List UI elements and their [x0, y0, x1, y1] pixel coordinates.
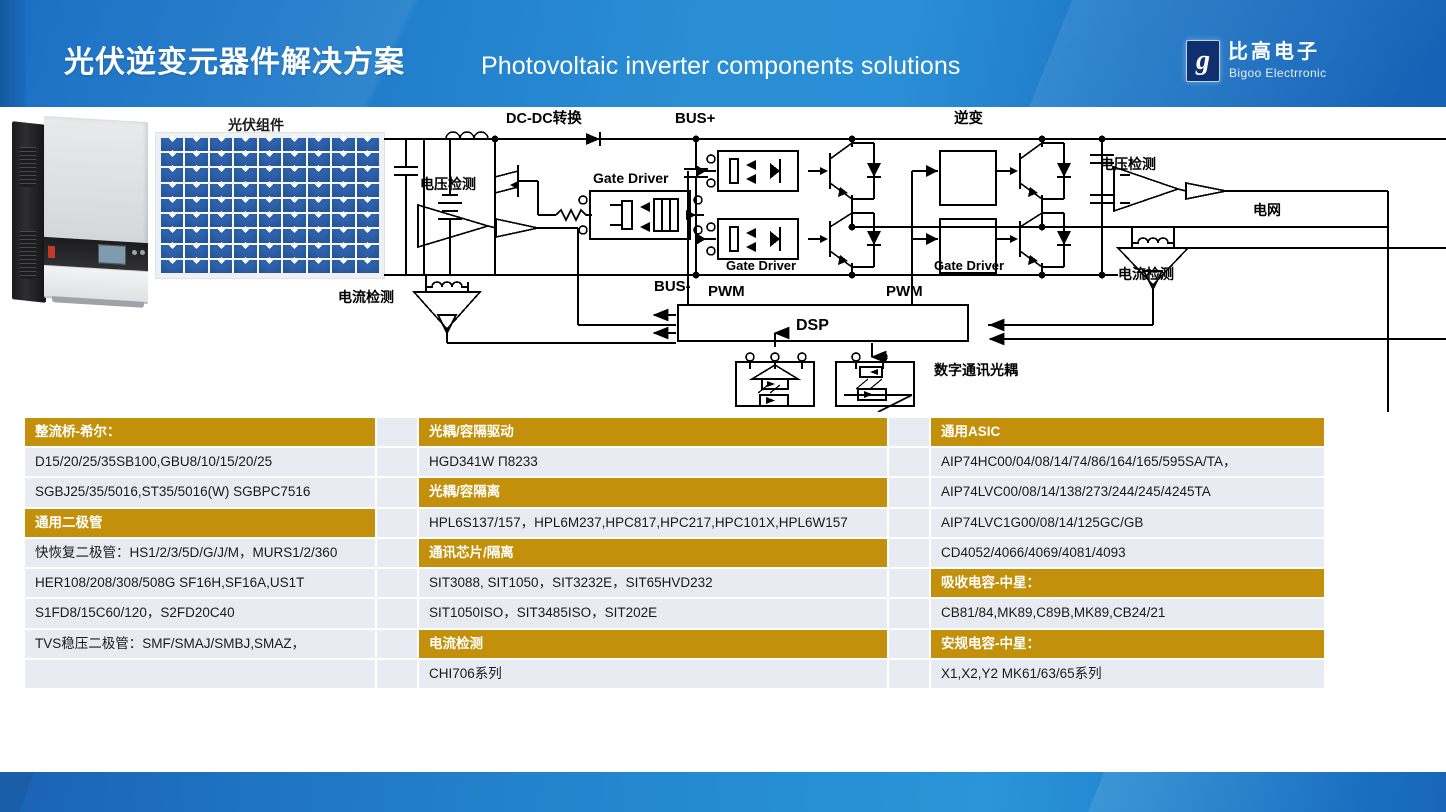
cell-b-4: 通讯芯片/隔离 — [418, 538, 888, 568]
cell-b-7: 电流检测 — [418, 629, 888, 659]
logo-name-cn: 比高电子 — [1228, 40, 1320, 65]
cell-spacer — [888, 659, 930, 689]
label-current-detect-1: 电流检测 — [338, 287, 394, 307]
cell-spacer — [888, 629, 930, 659]
table-row: S1FD8/15C60/120，S2FD20C40 SIT1050ISO，SIT… — [24, 598, 1325, 628]
banner-left-edge — [0, 0, 26, 107]
cell-a-4: 快恢复二极管：HS1/2/3/5D/G/J/M，MURS1/2/360 — [24, 538, 376, 568]
cell-spacer — [376, 538, 418, 568]
pv-cell — [234, 245, 256, 258]
table-row: SGBJ25/35/5016,ST35/5016(W) SGBPC7516 光耦… — [24, 477, 1325, 507]
cell-a-6: S1FD8/15C60/120，S2FD20C40 — [24, 598, 376, 628]
pv-cell — [259, 199, 281, 212]
pv-module-image — [155, 132, 385, 279]
pv-cell — [185, 260, 207, 273]
cell-a-8 — [24, 659, 376, 689]
pv-cell — [234, 260, 256, 273]
cell-spacer — [376, 447, 418, 477]
table-row: TVS稳压二极管：SMF/SMAJ/SMBJ,SMAZ， 电流检测 安规电容-中… — [24, 629, 1325, 659]
label-digital-opto: 数字通讯光耦 — [934, 362, 1018, 378]
cell-spacer — [888, 477, 930, 507]
cell-b-6: SIT1050ISO，SIT3485ISO，SIT202E — [418, 598, 888, 628]
pv-cell — [259, 138, 281, 151]
pv-cell — [161, 168, 183, 181]
block-diagram-area: 光伏组件 — [0, 107, 1446, 412]
table-row: D15/20/25/35SB100,GBU8/10/15/20/25 HGD34… — [24, 447, 1325, 477]
inverter-vent-bottom — [20, 231, 36, 279]
cell-c-1: AIP74HC00/04/08/14/74/86/164/165/595SA/T… — [930, 447, 1325, 477]
logo-mark-icon: g — [1186, 40, 1220, 82]
pv-cell — [332, 229, 354, 242]
cell-spacer — [888, 598, 930, 628]
page-title-cn: 光伏逆变元器件解决方案 — [64, 44, 405, 82]
pv-cell — [308, 138, 330, 151]
cell-b-1: HGD341W П8233 — [418, 447, 888, 477]
label-voltage-detect-2: 电压检测 — [1100, 156, 1156, 172]
inverter-circuit-schematic: DC-DC转换 BUS+ BUS- 逆变 Gate Driver Gate Dr… — [378, 107, 1446, 412]
cell-spacer — [376, 508, 418, 538]
pv-cell — [259, 229, 281, 242]
inverter-status-led — [48, 246, 55, 258]
cell-a-5: HER108/208/308/508G SF16H,SF16A,US1T — [24, 568, 376, 598]
cell-spacer — [376, 417, 418, 447]
table-row: 整流桥-希尔： 光耦/容隔驱动 通用ASIC — [24, 417, 1325, 447]
label-gate-driver-1: Gate Driver — [593, 170, 669, 186]
cell-a-7: TVS稳压二极管：SMF/SMAJ/SMBJ,SMAZ， — [24, 629, 376, 659]
pv-cell — [332, 168, 354, 181]
label-grid: 电网 — [1253, 202, 1281, 218]
cell-b-0: 光耦/容隔驱动 — [418, 417, 888, 447]
inverter-product-image — [12, 119, 152, 304]
pv-cell — [259, 168, 281, 181]
label-pwm-1: PWM — [708, 283, 745, 300]
label-dcdc: DC-DC转换 — [506, 109, 582, 127]
pv-cell — [308, 229, 330, 242]
pv-cell — [185, 184, 207, 197]
pv-cell — [332, 245, 354, 258]
inverter-lcd-screen — [98, 244, 126, 265]
pv-cell — [357, 245, 379, 258]
label-inverter: 逆变 — [954, 109, 983, 127]
pv-cell — [283, 245, 305, 258]
label-current-detect-2: 电流检测 — [1118, 266, 1174, 282]
pv-cell — [161, 229, 183, 242]
pv-cell — [234, 229, 256, 242]
cell-b-8: CHI706系列 — [418, 659, 888, 689]
cell-spacer — [888, 568, 930, 598]
pv-cell — [259, 214, 281, 227]
pv-cell — [357, 199, 379, 212]
label-gate-driver-2: Gate Driver — [726, 258, 796, 273]
pv-cell — [332, 260, 354, 273]
logo-mark-letter: g — [1187, 41, 1219, 81]
cell-c-3: AIP74LVC1G00/08/14/125GC/GB — [930, 508, 1325, 538]
page-title-en: Photovoltaic inverter components solutio… — [481, 49, 960, 83]
cell-spacer — [376, 598, 418, 628]
components-table: 整流桥-希尔： 光耦/容隔驱动 通用ASIC D15/20/25/35SB100… — [23, 416, 1326, 690]
cell-c-8: X1,X2,Y2 MK61/63/65系列 — [930, 659, 1325, 689]
slide-root: 光伏逆变元器件解决方案 Photovoltaic inverter compon… — [0, 0, 1446, 812]
footer-bar — [0, 772, 1446, 812]
table-row: 通用二极管 HPL6S137/157，HPL6M237,HPC817,HPC21… — [24, 508, 1325, 538]
pv-cell — [308, 260, 330, 273]
pv-cell — [357, 229, 379, 242]
cell-a-3: 通用二极管 — [24, 508, 376, 538]
pv-cell — [283, 184, 305, 197]
pv-cell — [185, 245, 207, 258]
label-pwm-2: PWM — [886, 283, 923, 300]
table-row: CHI706系列 X1,X2,Y2 MK61/63/65系列 — [24, 659, 1325, 689]
pv-cell — [259, 184, 281, 197]
table-row: 快恢复二极管：HS1/2/3/5D/G/J/M，MURS1/2/360 通讯芯片… — [24, 538, 1325, 568]
pv-cell — [308, 168, 330, 181]
cell-spacer — [888, 538, 930, 568]
pv-cell — [283, 168, 305, 181]
cell-b-5: SIT3088, SIT1050，SIT3232E，SIT65HVD232 — [418, 568, 888, 598]
label-dsp: DSP — [796, 317, 829, 334]
cell-c-7: 安规电容-中星： — [930, 629, 1325, 659]
cell-spacer — [888, 447, 930, 477]
pv-cell — [234, 168, 256, 181]
pv-cell — [283, 260, 305, 273]
pv-cell-grid — [161, 138, 379, 273]
pv-cell — [234, 184, 256, 197]
cell-c-5: 吸收电容-中星： — [930, 568, 1325, 598]
pv-cell — [357, 168, 379, 181]
cell-c-4: CD4052/4066/4069/4081/4093 — [930, 538, 1325, 568]
cell-b-2: 光耦/容隔离 — [418, 477, 888, 507]
pv-cell — [259, 260, 281, 273]
cell-spacer — [376, 568, 418, 598]
label-gate-driver-3: Gate Driver — [934, 258, 1004, 273]
inverter-button-1 — [132, 250, 137, 255]
cell-spacer — [376, 629, 418, 659]
inverter-button-2 — [140, 250, 145, 255]
logo-name-en: Bigoo Electrronic — [1229, 66, 1327, 81]
cell-c-6: CB81/84,MK89,C89B,MK89,CB24/21 — [930, 598, 1325, 628]
pv-cell — [308, 184, 330, 197]
pv-cell — [210, 260, 232, 273]
brand-logo: g 比高电子 Bigoo Electrronic — [1186, 40, 1361, 87]
inverter-vent-top — [20, 147, 36, 187]
cell-a-1: D15/20/25/35SB100,GBU8/10/15/20/25 — [24, 447, 376, 477]
pv-cell — [308, 245, 330, 258]
table-row: HER108/208/308/508G SF16H,SF16A,US1T SIT… — [24, 568, 1325, 598]
pv-cell — [185, 168, 207, 181]
cell-c-2: AIP74LVC00/08/14/138/273/244/245/4245TA — [930, 477, 1325, 507]
cell-c-0: 通用ASIC — [930, 417, 1325, 447]
label-voltage-detect-1: 电压检测 — [420, 176, 476, 192]
cell-spacer — [888, 508, 930, 538]
pv-cell — [185, 199, 207, 212]
cell-a-2: SGBJ25/35/5016,ST35/5016(W) SGBPC7516 — [24, 477, 376, 507]
pv-cell — [259, 245, 281, 258]
pv-cell — [357, 260, 379, 273]
label-bus-minus: BUS- — [654, 278, 691, 295]
pv-cell — [283, 229, 305, 242]
cell-a-0: 整流桥-希尔： — [24, 417, 376, 447]
pv-cell — [185, 229, 207, 242]
pv-cell — [308, 199, 330, 212]
header-banner: 光伏逆变元器件解决方案 Photovoltaic inverter compon… — [0, 0, 1446, 107]
cell-spacer — [376, 659, 418, 689]
label-bus-plus: BUS+ — [675, 110, 716, 127]
cell-spacer — [376, 477, 418, 507]
cell-b-3: HPL6S137/157，HPL6M237,HPC817,HPC217,HPC1… — [418, 508, 888, 538]
pv-cell — [161, 260, 183, 273]
cell-spacer — [888, 417, 930, 447]
pv-cell — [357, 184, 379, 197]
